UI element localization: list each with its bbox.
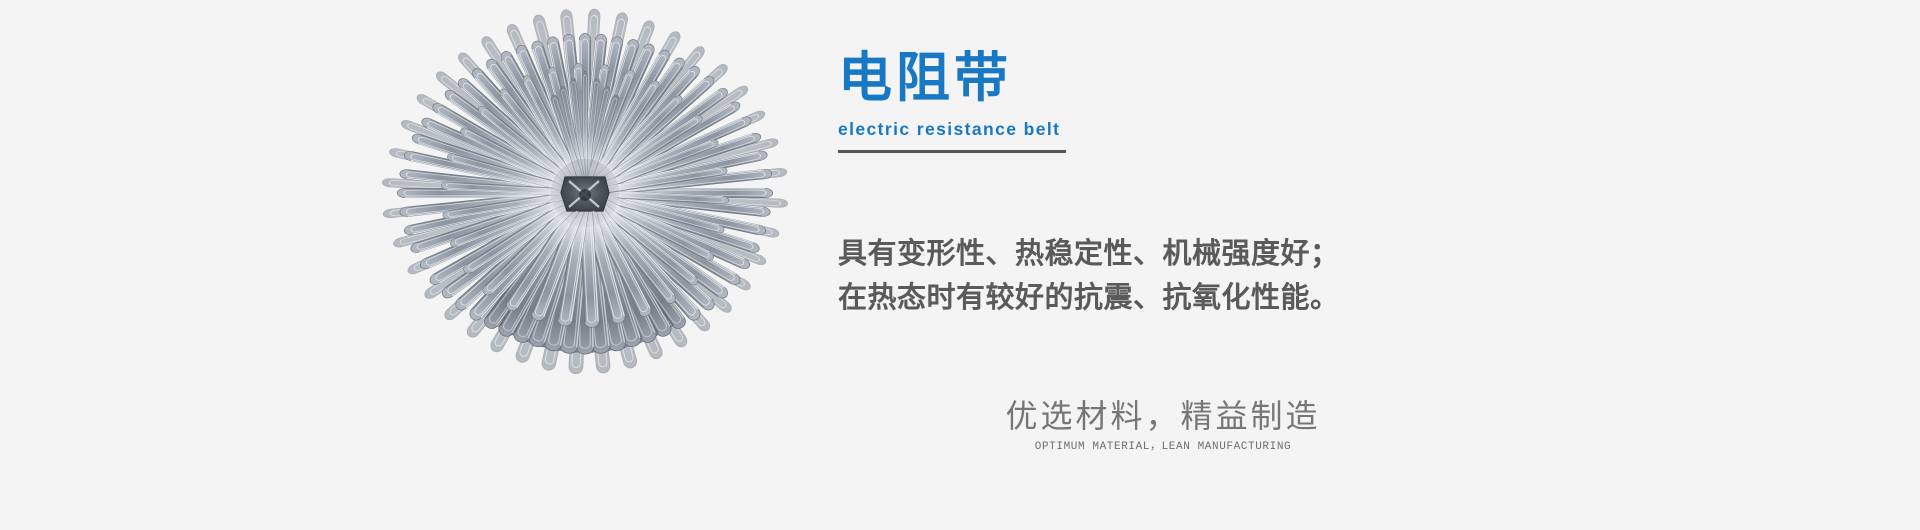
banner-content: 电阻带 electric resistance belt 具有变形性、热稳定性、… [838, 0, 1848, 530]
title-divider [838, 150, 1066, 153]
slogan-block: 优选材料，精益制造 OPTIMUM MATERIAL，LEAN MANUFACT… [953, 396, 1373, 454]
page-title: 电阻带 [838, 47, 1398, 109]
description-line-1: 具有变形性、热稳定性、机械强度好； [838, 232, 1538, 276]
product-image [365, 0, 805, 500]
page-subtitle: electric resistance belt [838, 118, 1398, 140]
slogan-english: OPTIMUM MATERIAL，LEAN MANUFACTURING [953, 440, 1373, 454]
description-line-2: 在热态时有较好的抗震、抗氧化性能。 [838, 276, 1538, 320]
product-banner: 电阻带 electric resistance belt 具有变形性、热稳定性、… [0, 0, 1920, 530]
resistance-belt-illustration [365, 0, 805, 500]
slogan-chinese: 优选材料，精益制造 [953, 396, 1373, 436]
resistance-belt-burst [365, 0, 805, 500]
heading-block: 电阻带 electric resistance belt [838, 47, 1398, 140]
description-block: 具有变形性、热稳定性、机械强度好； 在热态时有较好的抗震、抗氧化性能。 [838, 232, 1538, 320]
